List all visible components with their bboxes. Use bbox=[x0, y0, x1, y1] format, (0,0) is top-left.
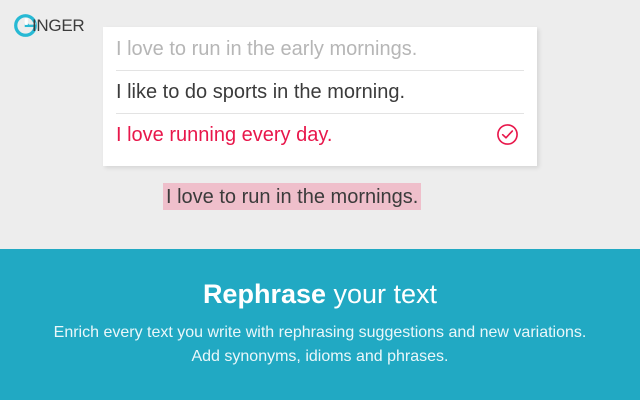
suggestion-text: I love to run in the early mornings. bbox=[116, 37, 519, 61]
banner-title-rest: your text bbox=[326, 279, 437, 309]
check-circle-icon[interactable] bbox=[496, 123, 519, 146]
banner-title: Rephrase your text bbox=[0, 277, 640, 311]
banner-title-bold: Rephrase bbox=[203, 279, 326, 309]
source-sentence-text: I love to run in the mornings. bbox=[166, 185, 418, 209]
suggestion-text: I like to do sports in the morning. bbox=[116, 80, 519, 104]
suggestion-row-0[interactable]: I love to run in the early mornings. bbox=[103, 27, 537, 70]
suggestion-row-2[interactable]: I love running every day. bbox=[103, 113, 537, 156]
logo-wordmark: INGER bbox=[32, 14, 84, 37]
banner-subtitle: Enrich every text you write with rephras… bbox=[0, 321, 640, 369]
suggestion-row-1[interactable]: I like to do sports in the morning. bbox=[103, 70, 537, 113]
feature-banner: Rephrase your text Enrich every text you… bbox=[0, 249, 640, 400]
ginger-logo[interactable]: INGER bbox=[14, 12, 84, 38]
suggestion-text: I love running every day. bbox=[116, 123, 496, 147]
source-sentence-highlight[interactable]: I love to run in the mornings. bbox=[163, 183, 421, 210]
rephrase-suggestion-card: I love to run in the early mornings. I l… bbox=[103, 27, 537, 166]
top-content-area: INGER I love to run in the early morning… bbox=[0, 0, 640, 249]
